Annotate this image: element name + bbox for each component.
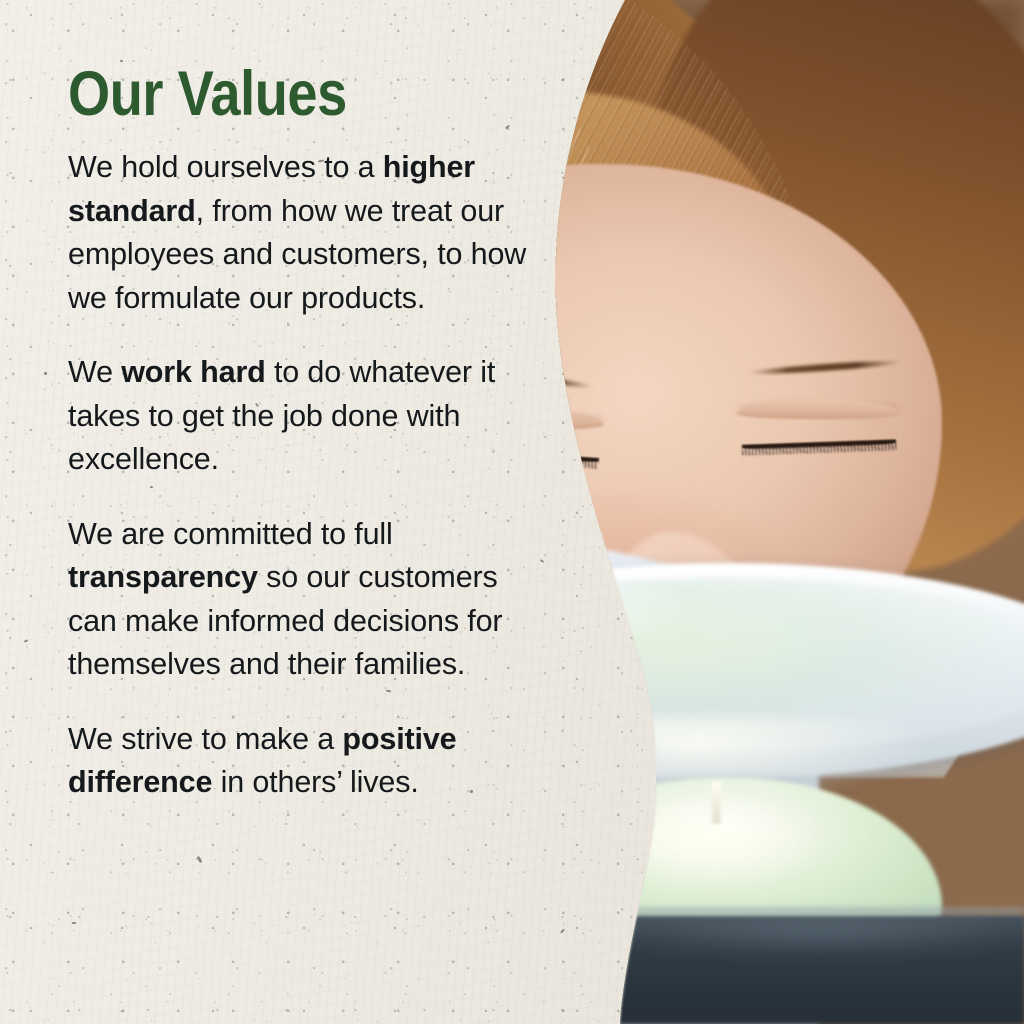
body-text: in others’ lives. (212, 765, 418, 799)
value-paragraph-transparency: We are committed to full transparency so… (68, 513, 538, 687)
value-paragraph-work-hard: We work hard to do whatever it takes to … (68, 351, 538, 482)
body-text: We are committed to full (68, 517, 393, 551)
worktop-reflection (594, 906, 1024, 957)
body-text: We (68, 355, 121, 389)
sample-jar-wick (712, 781, 721, 824)
values-paragraph-list: We hold ourselves to a higher standard, … (68, 146, 568, 805)
body-text: We strive to make a (68, 722, 342, 756)
values-text-column: Our Values We hold ourselves to a higher… (68, 62, 568, 805)
emphasis-text: work hard (121, 355, 265, 389)
eyelid-right (737, 399, 901, 419)
emphasis-text: transparency (68, 560, 258, 594)
value-paragraph-higher-standard: We hold ourselves to a higher standard, … (68, 146, 538, 320)
value-paragraph-positive-difference: We strive to make a positive difference … (68, 718, 538, 805)
values-card: Our Values We hold ourselves to a higher… (0, 0, 1024, 1024)
body-text: We hold ourselves to a (68, 150, 383, 184)
page-title: Our Values (68, 62, 498, 126)
